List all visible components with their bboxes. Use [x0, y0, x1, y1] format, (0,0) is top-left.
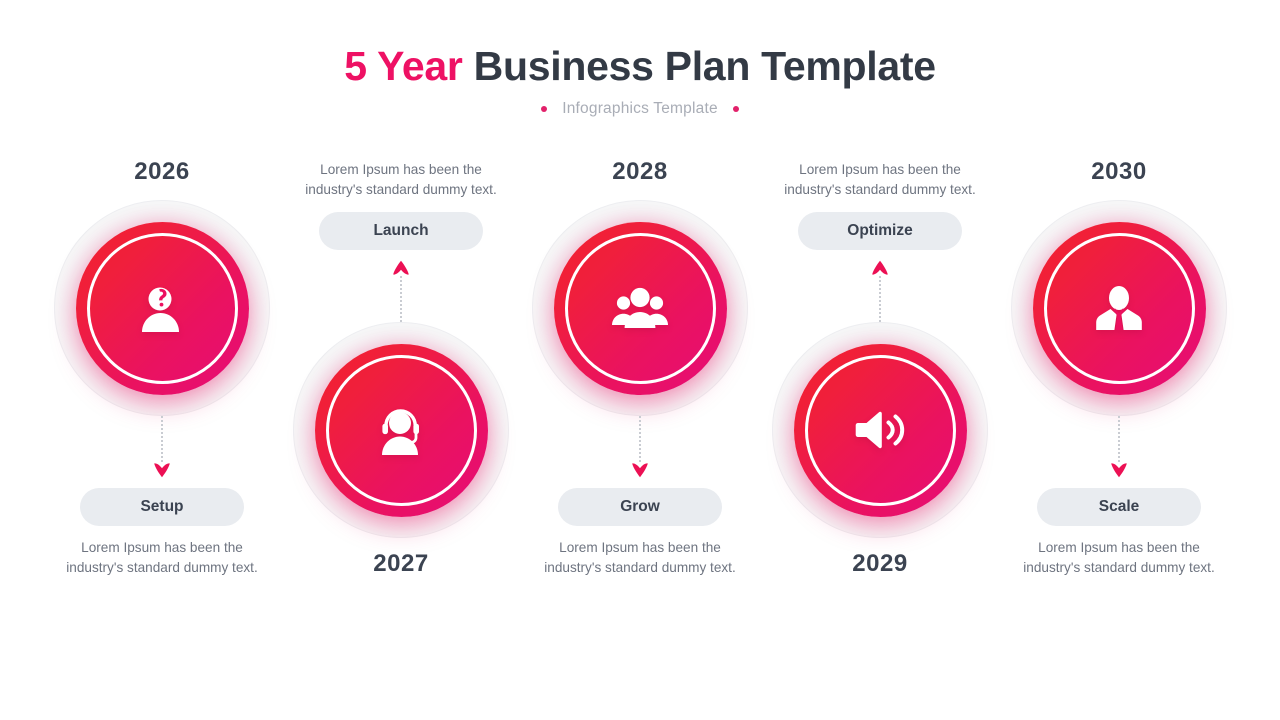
businessperson-tie-icon — [1087, 276, 1151, 340]
dotted-line — [879, 276, 881, 322]
step-pill-grow[interactable]: Grow — [558, 488, 722, 526]
arrow-down-icon — [1110, 462, 1128, 478]
title-accent: 5 Year — [344, 43, 462, 89]
subtitle-row: Infographics Template — [0, 100, 1280, 118]
arrow-up-icon — [392, 260, 410, 276]
step-pill-optimize[interactable]: Optimize — [798, 212, 962, 250]
user-question-icon — [130, 276, 194, 340]
step-column-2028: 2028 Grow Lorem Ipsum has bee — [520, 160, 760, 660]
step-year-label: 2027 — [373, 552, 428, 576]
bullet-dot-left-icon — [541, 106, 547, 112]
bullet-dot-right-icon — [733, 106, 739, 112]
dotted-line — [1118, 416, 1120, 462]
step-body-text: Lorem Ipsum has been the industry's stan… — [299, 160, 504, 200]
step-badge-2028[interactable] — [532, 200, 748, 416]
dotted-line — [400, 276, 402, 322]
arrow-down-icon — [631, 462, 649, 478]
connector-up-2027 — [390, 260, 412, 322]
step-badge-2027[interactable] — [293, 322, 509, 538]
step-badge-2029[interactable] — [772, 322, 988, 538]
step-year-label: 2028 — [612, 160, 667, 184]
page-header: 5 Year Business Plan Template Infographi… — [0, 44, 1280, 118]
users-group-icon — [608, 276, 672, 340]
arrow-down-icon — [153, 462, 171, 478]
connector-up-2029 — [869, 260, 891, 322]
step-body-text: Lorem Ipsum has been the industry's stan… — [60, 538, 265, 578]
connector-down-2026 — [151, 416, 173, 478]
step-pill-scale[interactable]: Scale — [1037, 488, 1201, 526]
page-subtitle: Infographics Template — [562, 100, 718, 118]
connector-down-2030 — [1108, 416, 1130, 478]
step-body-text: Lorem Ipsum has been the industry's stan… — [538, 538, 743, 578]
badge-disc — [794, 344, 967, 517]
step-pill-launch[interactable]: Launch — [319, 212, 483, 250]
step-year-label: 2030 — [1091, 160, 1146, 184]
badge-disc — [554, 222, 727, 395]
step-badge-2026[interactable] — [54, 200, 270, 416]
arrow-up-icon — [871, 260, 889, 276]
headset-support-icon — [369, 398, 433, 462]
dotted-line — [639, 416, 641, 462]
badge-disc — [1033, 222, 1206, 395]
step-body-text: Lorem Ipsum has been the industry's stan… — [1017, 538, 1222, 578]
step-badge-2030[interactable] — [1011, 200, 1227, 416]
page-title: 5 Year Business Plan Template — [0, 44, 1280, 90]
speaker-volume-icon — [848, 398, 912, 462]
step-column-2030: 2030 Scale Lorem Ipsum has been the indu — [999, 160, 1239, 660]
infographic-board: 2026 Setup Lorem Ipsum has been the indu… — [0, 160, 1280, 680]
step-pill-setup[interactable]: Setup — [80, 488, 244, 526]
dotted-line — [161, 416, 163, 462]
step-column-2027: Lorem Ipsum has been the industry's stan… — [281, 160, 521, 660]
step-year-label: 2026 — [134, 160, 189, 184]
title-rest: Business Plan Template — [463, 43, 936, 89]
badge-disc — [315, 344, 488, 517]
step-column-2026: 2026 Setup Lorem Ipsum has been the indu… — [42, 160, 282, 660]
connector-down-2028 — [629, 416, 651, 478]
step-year-label: 2029 — [852, 552, 907, 576]
step-body-text: Lorem Ipsum has been the industry's stan… — [778, 160, 983, 200]
step-column-2029: Lorem Ipsum has been the industry's stan… — [760, 160, 1000, 660]
badge-disc — [76, 222, 249, 395]
